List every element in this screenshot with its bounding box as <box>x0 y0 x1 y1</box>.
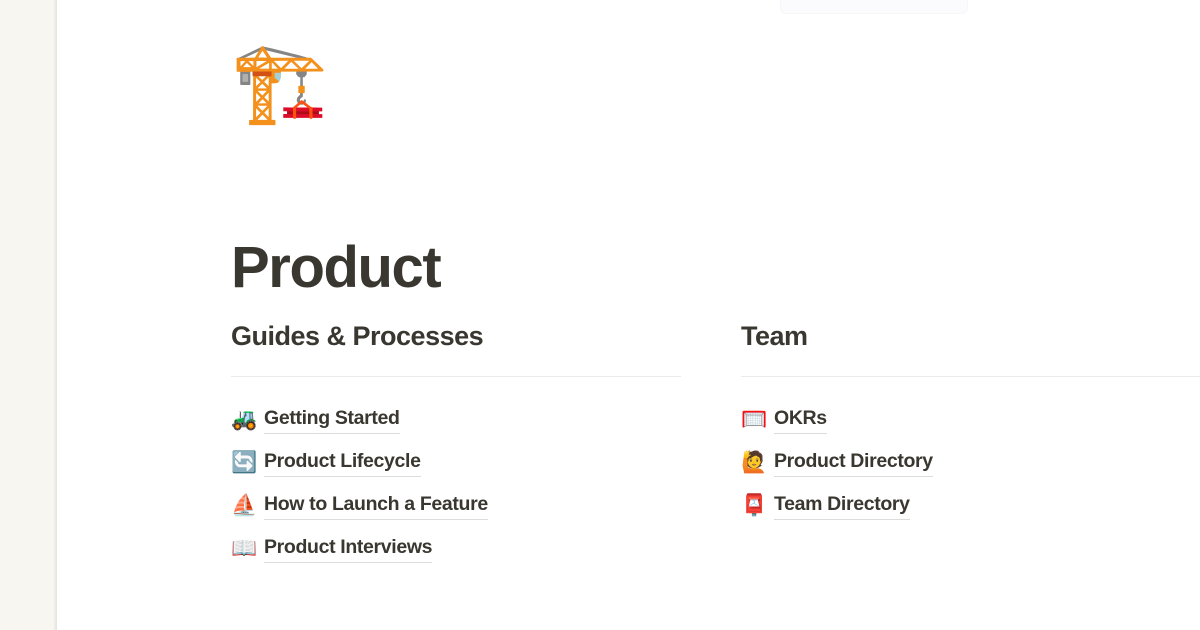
construction-crane-emoji[interactable]: 🏗️ <box>231 44 328 122</box>
list-item[interactable]: 🙋 Product Directory <box>741 441 1200 484</box>
list-item[interactable]: ⛵ How to Launch a Feature <box>231 484 681 527</box>
top-toolbar-pill[interactable] <box>780 0 968 14</box>
postbox-icon: 📮 <box>741 495 765 516</box>
link-label[interactable]: Getting Started <box>264 406 400 434</box>
link-label[interactable]: Product Interviews <box>264 535 432 563</box>
link-label[interactable]: How to Launch a Feature <box>264 492 488 520</box>
link-list-guides-processes: 🚜 Getting Started 🔄 Product Lifecycle ⛵ … <box>231 398 681 570</box>
sync-arrows-icon: 🔄 <box>231 452 255 473</box>
link-label[interactable]: Team Directory <box>774 492 910 520</box>
main-content: 🏗️ Product Guides & Processes 🚜 Getting … <box>57 0 1200 630</box>
sailboat-icon: ⛵ <box>231 495 255 516</box>
link-label[interactable]: Product Lifecycle <box>264 449 421 477</box>
open-book-icon: 📖 <box>231 538 255 559</box>
page-root: 🏗️ Product Guides & Processes 🚜 Getting … <box>0 0 1200 630</box>
section-divider <box>741 376 1200 377</box>
column-team: Team 🥅 OKRs 🙋 Product Directory 📮 <box>741 320 1200 570</box>
link-list-team: 🥅 OKRs 🙋 Product Directory 📮 Team Direct… <box>741 398 1200 527</box>
column-guides-processes: Guides & Processes 🚜 Getting Started 🔄 P… <box>231 320 681 570</box>
page-title: Product <box>231 235 440 302</box>
person-raising-hand-icon: 🙋 <box>741 452 765 473</box>
goal-net-icon: 🥅 <box>741 409 765 430</box>
list-item[interactable]: 🥅 OKRs <box>741 398 1200 441</box>
list-item[interactable]: 🔄 Product Lifecycle <box>231 441 681 484</box>
list-item[interactable]: 📮 Team Directory <box>741 484 1200 527</box>
section-divider <box>231 376 681 377</box>
link-label[interactable]: Product Directory <box>774 449 933 477</box>
section-heading-team: Team <box>741 320 1200 376</box>
sidebar-rail[interactable] <box>0 0 57 630</box>
link-columns: Guides & Processes 🚜 Getting Started 🔄 P… <box>231 320 1200 570</box>
list-item[interactable]: 📖 Product Interviews <box>231 527 681 570</box>
link-label[interactable]: OKRs <box>774 406 827 434</box>
tractor-icon: 🚜 <box>231 409 255 430</box>
list-item[interactable]: 🚜 Getting Started <box>231 398 681 441</box>
section-heading-guides-processes: Guides & Processes <box>231 320 681 376</box>
